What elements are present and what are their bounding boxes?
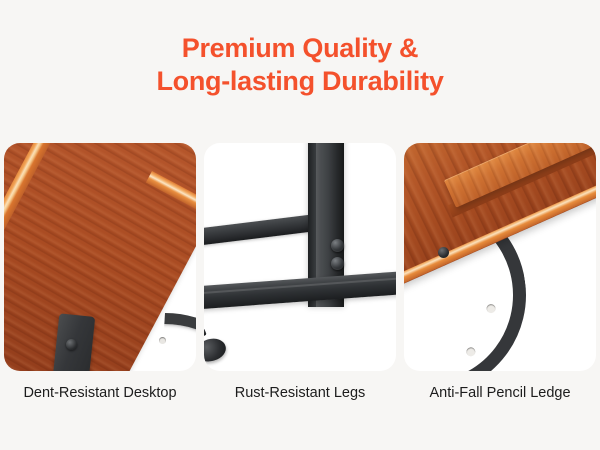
metal-legs-photo	[204, 143, 396, 371]
headline-line-1: Premium Quality &	[0, 32, 600, 65]
page-title: Premium Quality & Long-lasting Durabilit…	[0, 32, 600, 98]
feature-card-row: Dent-Resistant Desktop Rust-Resistant Le…	[4, 143, 596, 402]
product-feature-banner: Premium Quality & Long-lasting Durabilit…	[0, 0, 600, 450]
feature-card-anti-fall-pencil-ledge: Anti-Fall Pencil Ledge	[404, 143, 596, 402]
feature-caption: Dent-Resistant Desktop	[4, 384, 196, 402]
feature-caption: Anti-Fall Pencil Ledge	[404, 384, 596, 402]
caster-wheel	[204, 335, 228, 364]
bracket-hole	[159, 337, 166, 344]
feature-caption: Rust-Resistant Legs	[204, 384, 396, 402]
pencil-ledge-photo	[404, 143, 596, 371]
leg-bolt-lower	[331, 257, 344, 270]
headline-line-2: Long-lasting Durability	[0, 65, 600, 98]
bracket-hole	[486, 304, 496, 314]
hinge-bolt	[66, 339, 77, 350]
desktop-corner-photo	[4, 143, 196, 371]
bracket-bolt	[438, 247, 449, 258]
leg-bolt-upper	[331, 239, 344, 252]
feature-card-rust-resistant-legs: Rust-Resistant Legs	[204, 143, 396, 402]
bracket-hole	[466, 347, 476, 357]
feature-card-dent-resistant-desktop: Dent-Resistant Desktop	[4, 143, 196, 402]
